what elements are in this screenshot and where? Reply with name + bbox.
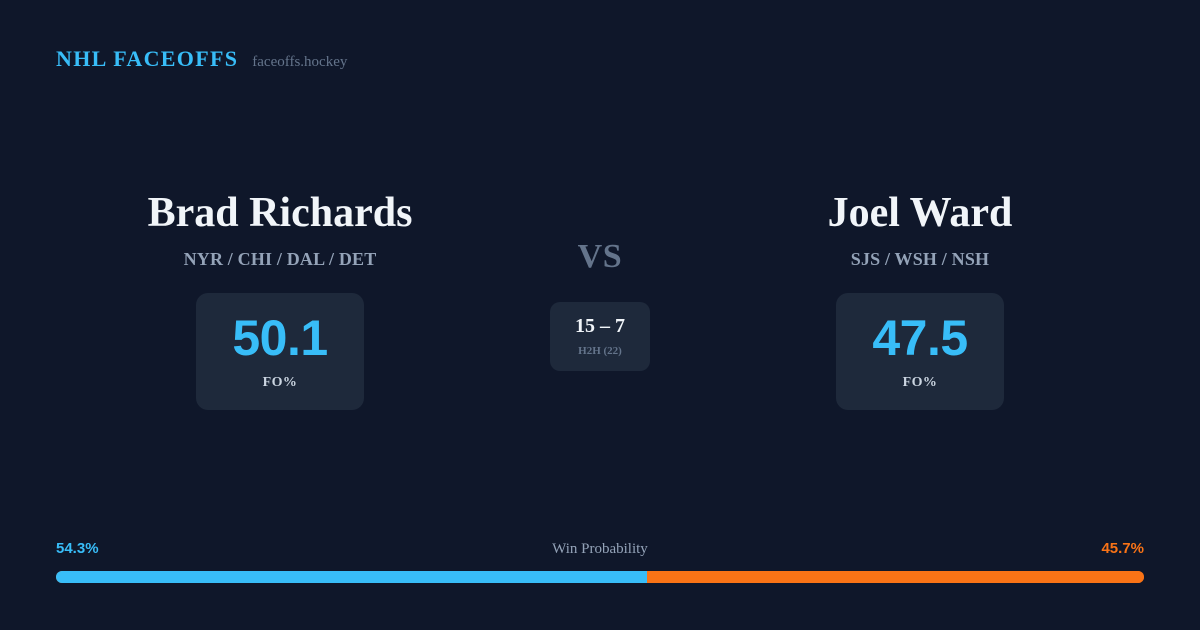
left-player-faceoff-label: FO% bbox=[263, 375, 298, 391]
win-probability-bar bbox=[56, 571, 1144, 583]
matchup-section: Brad Richards NYR / CHI / DAL / DET 50.1… bbox=[0, 190, 1200, 410]
left-player-faceoff-value: 50.1 bbox=[232, 313, 327, 363]
site-domain: faceoffs.hockey bbox=[252, 54, 347, 71]
h2h-label: H2H (22) bbox=[578, 345, 622, 357]
head-to-head-badge: 15 – 7 H2H (22) bbox=[550, 302, 650, 371]
h2h-record: 15 – 7 bbox=[575, 316, 625, 336]
left-player-teams: NYR / CHI / DAL / DET bbox=[184, 249, 377, 270]
right-player-faceoff-value: 47.5 bbox=[872, 313, 967, 363]
left-player-name: Brad Richards bbox=[148, 190, 413, 237]
win-probability-title: Win Probability bbox=[56, 541, 1144, 558]
right-player-stat-card: 47.5 FO% bbox=[836, 293, 1004, 410]
right-player-faceoff-label: FO% bbox=[903, 375, 938, 391]
right-player-block: Joel Ward SJS / WSH / NSH 47.5 FO% bbox=[680, 190, 1160, 410]
vs-label: VS bbox=[578, 240, 623, 274]
win-probability-bar-left-segment bbox=[56, 571, 647, 583]
win-probability-section: 54.3% Win Probability 45.7% bbox=[56, 540, 1144, 583]
site-header: NHL FACEOFFS faceoffs.hockey bbox=[56, 46, 347, 72]
win-probability-bar-right-segment bbox=[647, 571, 1144, 583]
brand-title: NHL FACEOFFS bbox=[56, 46, 238, 72]
win-probability-labels: 54.3% Win Probability 45.7% bbox=[56, 540, 1144, 562]
left-player-block: Brad Richards NYR / CHI / DAL / DET 50.1… bbox=[40, 190, 520, 410]
right-win-probability-label: 45.7% bbox=[1101, 540, 1144, 557]
versus-block: VS 15 – 7 H2H (22) bbox=[520, 190, 680, 371]
right-player-name: Joel Ward bbox=[828, 190, 1013, 237]
left-player-stat-card: 50.1 FO% bbox=[196, 293, 364, 410]
right-player-teams: SJS / WSH / NSH bbox=[851, 249, 989, 270]
